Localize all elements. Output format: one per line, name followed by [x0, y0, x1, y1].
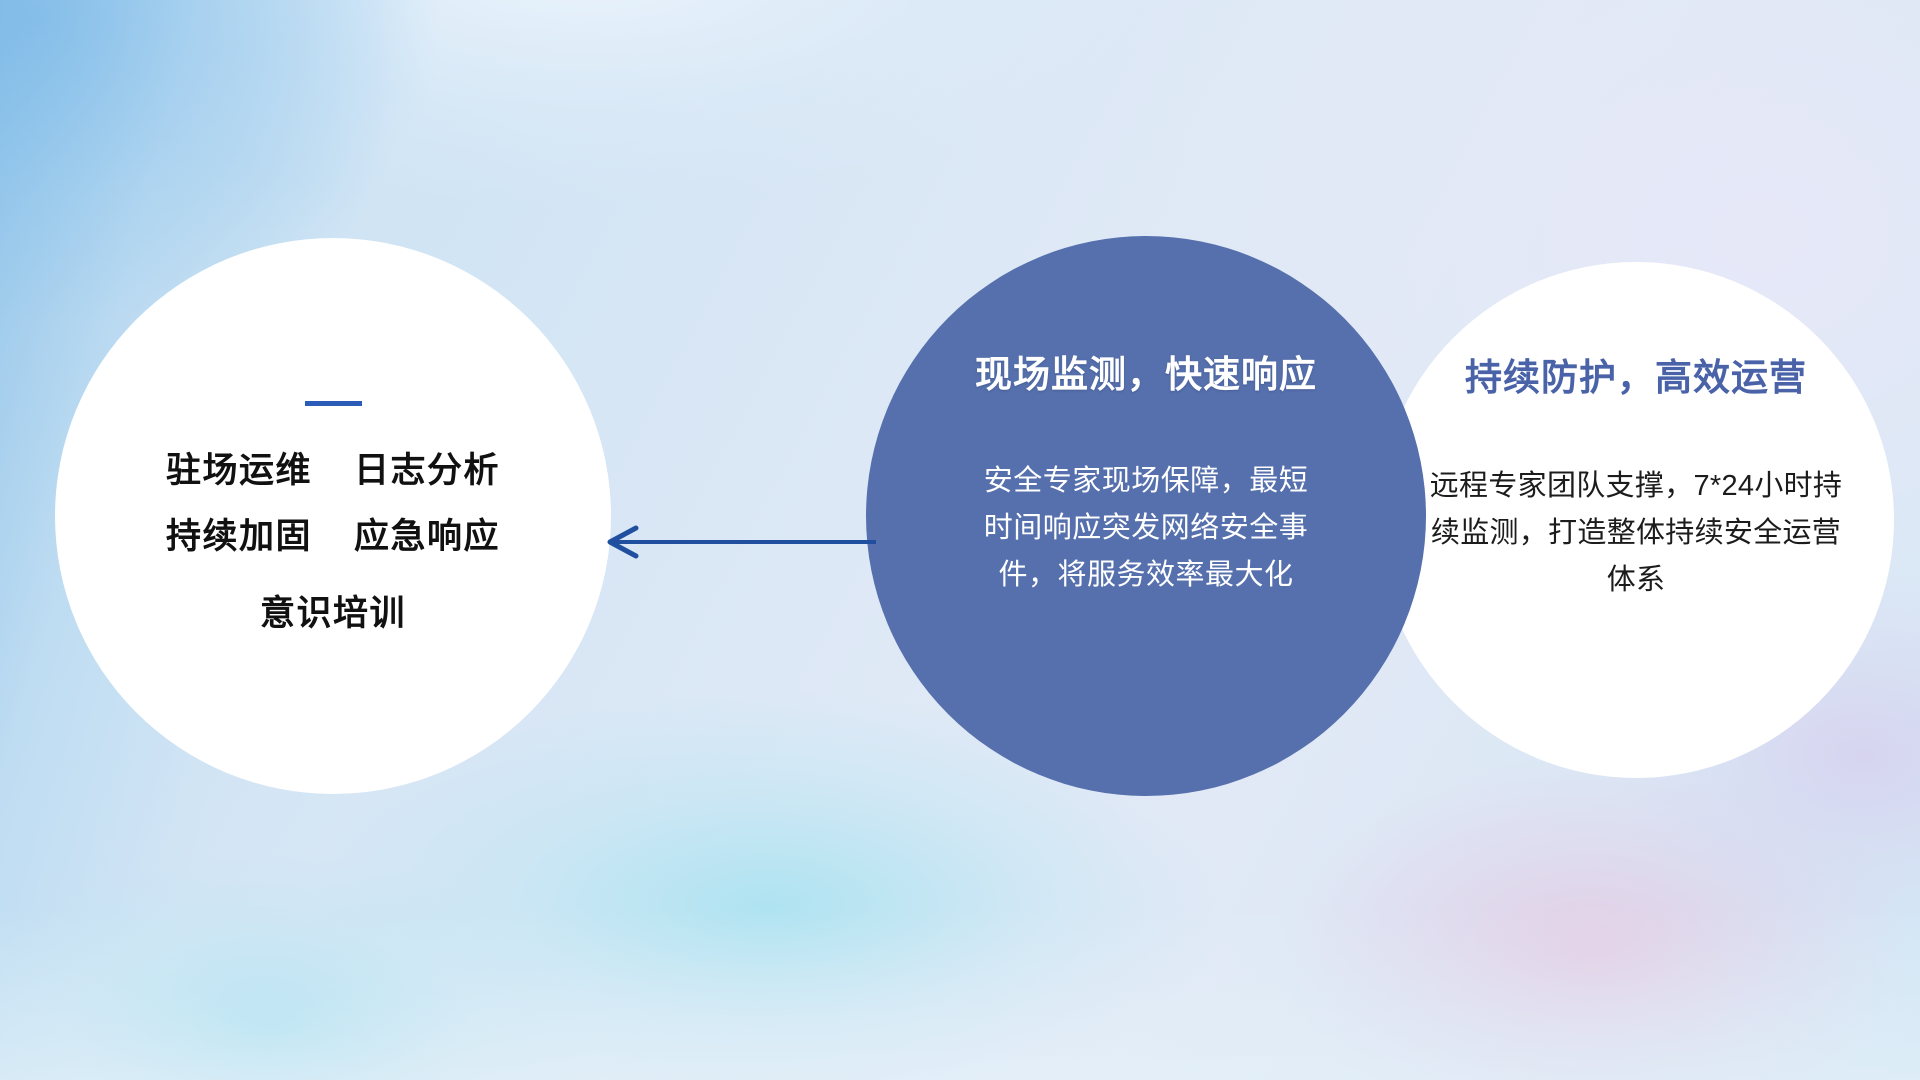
- divider-dash: [305, 401, 362, 406]
- center-circle-content: 现场监测，快速响应 安全专家现场保障，最短时间响应突发网络安全事件，将服务效率最…: [866, 236, 1426, 796]
- keyword-item[interactable]: 驻场运维: [166, 452, 312, 491]
- center-circle-title: 现场监测，快速响应: [975, 344, 1317, 398]
- keyword-item[interactable]: 持续加固: [166, 518, 312, 557]
- left-circle-content: 驻场运维 日志分析 持续加固 应急响应 意识培训: [55, 238, 611, 794]
- right-circle-content: 持续防护，高效运营 远程专家团队支撑，7*24小时持续监测，打造整体持续安全运营…: [1378, 262, 1894, 778]
- keyword-row: 持续加固 应急响应: [166, 518, 500, 557]
- arrow-left-icon: [600, 520, 880, 564]
- right-circle-body: 远程专家团队支撑，7*24小时持续监测，打造整体持续安全运营体系: [1421, 463, 1851, 604]
- keyword-item[interactable]: 日志分析: [354, 452, 500, 491]
- keyword-row: 驻场运维 日志分析: [166, 452, 500, 491]
- center-circle-body: 安全专家现场保障，最短时间响应突发网络安全事件，将服务效率最大化: [981, 458, 1311, 599]
- keyword-row: 意识培训: [260, 595, 406, 634]
- keyword-item[interactable]: 应急响应: [354, 518, 500, 557]
- slide-canvas: 驻场运维 日志分析 持续加固 应急响应 意识培训 现场监测，快速响应 安全专家现…: [0, 0, 1920, 1080]
- keyword-item[interactable]: 意识培训: [260, 595, 406, 634]
- right-circle-title: 持续防护，高效运营: [1465, 347, 1807, 401]
- keyword-list: 驻场运维 日志分析 持续加固 应急响应 意识培训: [166, 452, 500, 634]
